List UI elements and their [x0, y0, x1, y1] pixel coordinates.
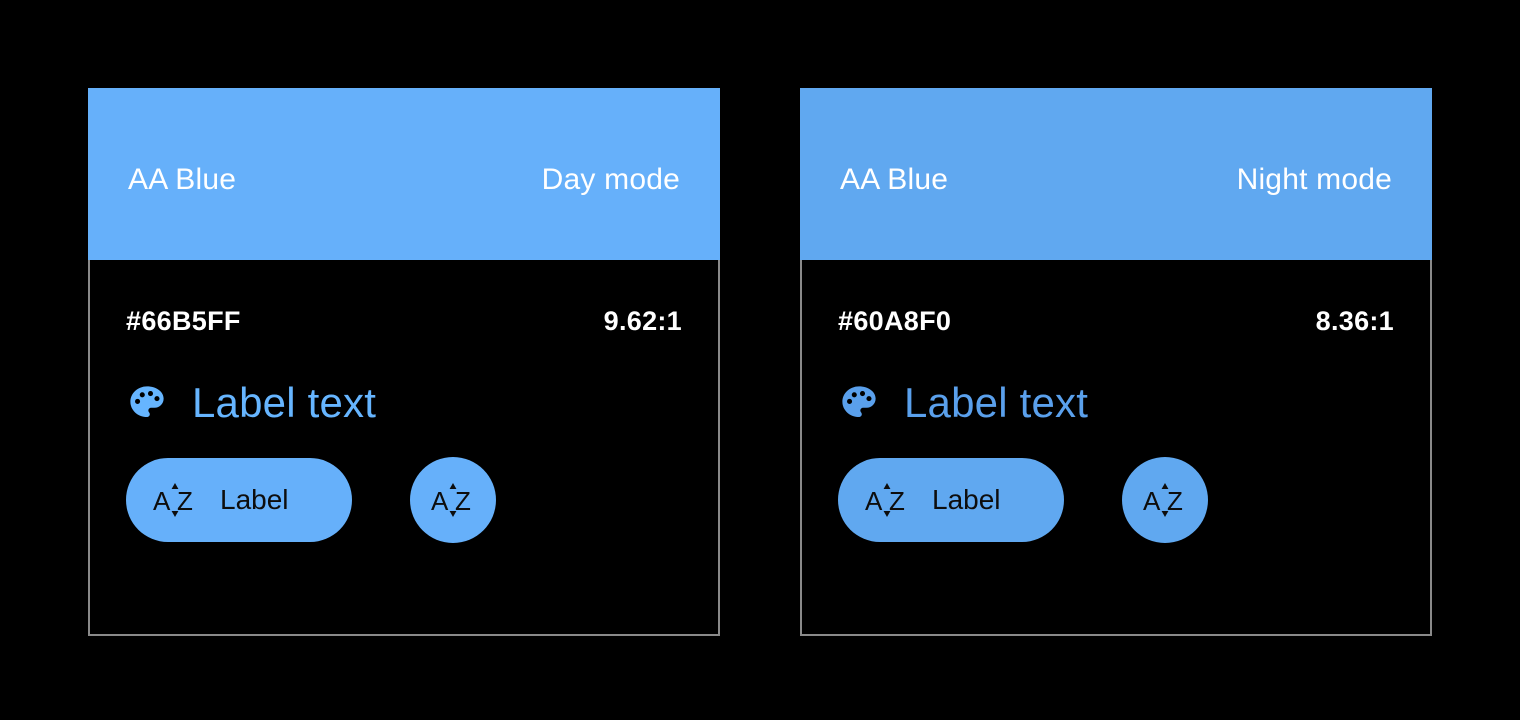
hex-value: #60A8F0 — [838, 306, 951, 336]
card-header-row: AA Blue Night mode — [840, 164, 1392, 196]
contrast-ratio-value: 9.62:1 — [604, 306, 682, 336]
card-mode-label: Day mode — [542, 164, 680, 196]
preview-stage: AA Blue Day mode #66B5FF 9.62:1 Label te… — [0, 0, 1520, 720]
palette-icon — [838, 382, 880, 424]
color-meta-row: #66B5FF 9.62:1 — [126, 306, 682, 336]
contrast-ratio-value: 8.36:1 — [1316, 306, 1394, 336]
card-body-day: #66B5FF 9.62:1 Label text A Z — [88, 260, 720, 636]
card-header-day: AA Blue Day mode — [88, 88, 720, 260]
sort-label-button-text: Label — [932, 485, 1001, 515]
hex-value: #66B5FF — [126, 306, 241, 336]
sort-label-button[interactable]: A Z Label — [838, 458, 1064, 542]
sort-icon-button[interactable]: A Z — [410, 457, 496, 543]
sort-label-button-text: Label — [220, 485, 289, 515]
button-row: A Z Label A Z — [838, 457, 1208, 543]
color-preview-card-night: AA Blue Night mode #60A8F0 8.36:1 Label … — [800, 88, 1432, 636]
card-header-row: AA Blue Day mode — [128, 164, 680, 196]
card-header-night: AA Blue Night mode — [800, 88, 1432, 260]
sort-alpha-icon: A Z — [152, 480, 198, 520]
svg-text:A: A — [431, 486, 449, 516]
svg-text:A: A — [153, 486, 171, 516]
card-body-night: #60A8F0 8.36:1 Label text A Z — [800, 260, 1432, 636]
button-row: A Z Label A Z — [126, 457, 496, 543]
label-sample-row: Label text — [838, 380, 1088, 426]
svg-text:Z: Z — [455, 486, 471, 516]
svg-text:A: A — [865, 486, 883, 516]
label-sample-text: Label text — [192, 380, 376, 426]
svg-text:Z: Z — [889, 486, 905, 516]
card-title: AA Blue — [840, 164, 948, 196]
sort-label-button[interactable]: A Z Label — [126, 458, 352, 542]
color-meta-row: #60A8F0 8.36:1 — [838, 306, 1394, 336]
label-sample-row: Label text — [126, 380, 376, 426]
color-preview-card-day: AA Blue Day mode #66B5FF 9.62:1 Label te… — [88, 88, 720, 636]
card-mode-label: Night mode — [1237, 164, 1392, 196]
sort-alpha-icon: A Z — [1142, 480, 1188, 520]
svg-text:Z: Z — [1167, 486, 1183, 516]
sort-alpha-icon: A Z — [864, 480, 910, 520]
sort-icon-button[interactable]: A Z — [1122, 457, 1208, 543]
palette-icon — [126, 382, 168, 424]
card-title: AA Blue — [128, 164, 236, 196]
sort-alpha-icon: A Z — [430, 480, 476, 520]
svg-text:A: A — [1143, 486, 1161, 516]
label-sample-text: Label text — [904, 380, 1088, 426]
svg-text:Z: Z — [177, 486, 193, 516]
